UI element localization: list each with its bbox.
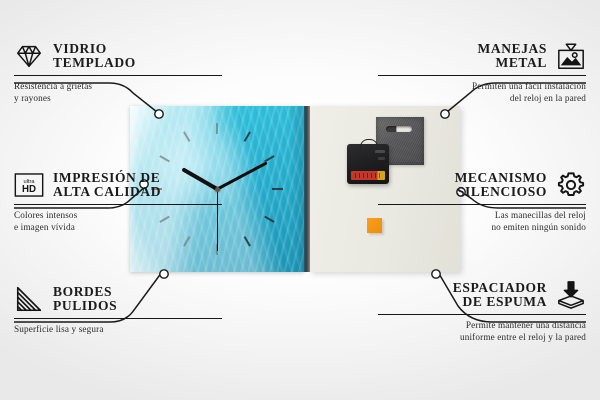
clock-minute-hand bbox=[216, 161, 267, 190]
callout-espaciador-espuma[interactable]: ESPACIADOR DE ESPUMA Permite mantener un… bbox=[378, 280, 586, 343]
ultra-hd-icon: ultra HD bbox=[14, 170, 44, 200]
callout-impresion-alta-calidad[interactable]: ultra HD IMPRESIÓN DE ALTA CALIDAD Color… bbox=[14, 170, 222, 233]
callout-title: IMPRESIÓN DE ALTA CALIDAD bbox=[53, 171, 161, 200]
mechanism-dial bbox=[375, 150, 385, 153]
callout-mecanismo-silencioso[interactable]: MECANISMO SILENCIOSO Las manecillas del … bbox=[378, 170, 586, 233]
gear-icon bbox=[556, 170, 586, 200]
mechanism-dial-small bbox=[378, 157, 385, 160]
callout-title: ESPACIADOR DE ESPUMA bbox=[453, 281, 547, 310]
callout-bordes-pulidos[interactable]: BORDES PULIDOS Superficie lisa y segura bbox=[14, 284, 222, 336]
callout-subtitle: Colores intensos e imagen vívida bbox=[14, 210, 222, 233]
callout-title: MECANISMO SILENCIOSO bbox=[455, 171, 547, 200]
callout-title: MANEJAS METAL bbox=[478, 42, 547, 71]
callout-divider bbox=[14, 75, 222, 76]
callout-divider bbox=[378, 75, 586, 76]
callout-subtitle: Resistencia a grietas y rayones bbox=[14, 81, 222, 104]
callout-divider bbox=[14, 318, 222, 319]
svg-text:HD: HD bbox=[22, 184, 36, 195]
callout-divider bbox=[378, 204, 586, 205]
polished-edge-icon bbox=[14, 284, 44, 314]
callout-divider bbox=[378, 314, 586, 315]
callout-title: BORDES PULIDOS bbox=[53, 285, 117, 314]
mechanism-hook bbox=[360, 139, 378, 149]
callout-subtitle: Permiten una fácil instalación del reloj… bbox=[378, 81, 586, 104]
callout-vidrio-templado[interactable]: VIDRIO TEMPLADO Resistencia a grietas y … bbox=[14, 41, 222, 104]
picture-frame-icon bbox=[556, 41, 586, 71]
callout-divider bbox=[14, 204, 222, 205]
foam-spacer-icon bbox=[556, 280, 586, 310]
hanger-keyhole-slot bbox=[386, 126, 412, 132]
callout-subtitle: Las manecillas del reloj no emiten ningú… bbox=[378, 210, 586, 233]
callout-subtitle: Permite mantener una distancia uniforme … bbox=[378, 320, 586, 343]
callout-subtitle: Superficie lisa y segura bbox=[14, 324, 222, 335]
infographic-canvas: VIDRIO TEMPLADO Resistencia a grietas y … bbox=[0, 0, 600, 400]
diamond-icon bbox=[14, 41, 44, 71]
callout-title: VIDRIO TEMPLADO bbox=[53, 42, 136, 71]
callout-manejas-metal[interactable]: MANEJAS METAL Permiten una fácil instala… bbox=[378, 41, 586, 104]
